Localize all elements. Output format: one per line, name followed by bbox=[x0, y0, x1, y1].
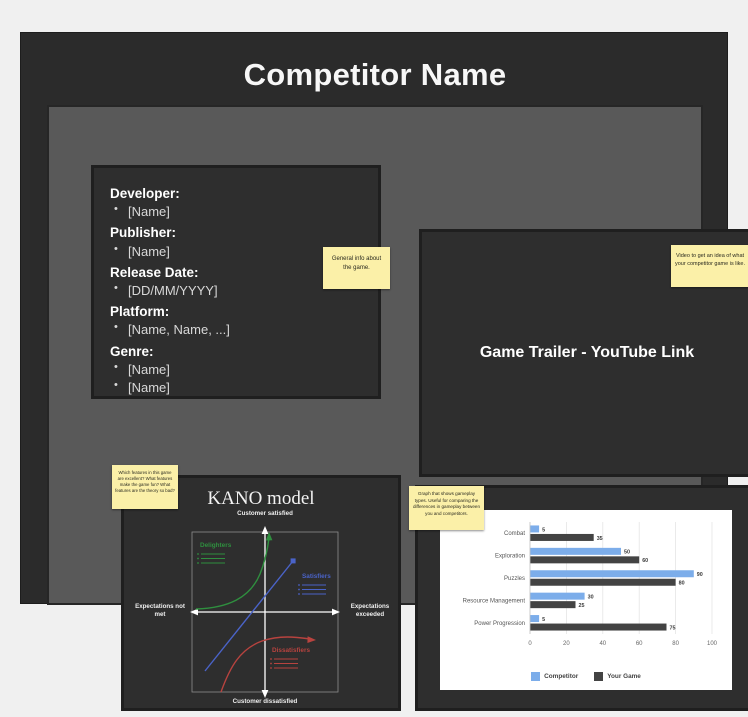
x-tick-label: 40 bbox=[599, 641, 606, 647]
legend-item-your-game: Your Game bbox=[594, 672, 641, 681]
kano-curve-label-dissatisfiers: Dissatisfiers bbox=[272, 647, 310, 654]
slide: Competitor Name Developer: [Name] Publis… bbox=[20, 32, 728, 604]
legend-swatch-competitor bbox=[531, 672, 540, 681]
bar-0 bbox=[530, 570, 694, 577]
bar-0 bbox=[530, 525, 539, 532]
sticky-note-kano: Which features in this game are excellen… bbox=[112, 465, 178, 509]
kano-axis-label-bottom: Customer dissatisfied bbox=[229, 698, 301, 706]
kano-placeholder-lines-dissatisfiers bbox=[274, 659, 298, 668]
chart-x-axis-ticks: 020406080100 bbox=[528, 641, 717, 647]
bar-1 bbox=[530, 534, 594, 541]
category-label: Puzzles bbox=[504, 576, 525, 582]
legend-label-your-game: Your Game bbox=[607, 673, 641, 680]
legend-item-competitor: Competitor bbox=[531, 672, 578, 681]
kano-diagram: Delighters Satisfiers bbox=[124, 512, 404, 712]
category-label: Power Progression bbox=[474, 621, 525, 627]
page-title: Competitor Name bbox=[21, 57, 729, 93]
bar-value-label: 90 bbox=[697, 572, 703, 578]
slide-content-frame: Developer: [Name] Publisher: [Name] Rele… bbox=[47, 105, 703, 605]
x-tick-label: 80 bbox=[672, 641, 679, 647]
kano-model-panel: KANO model bbox=[121, 475, 401, 711]
info-value: [Name] bbox=[110, 203, 368, 221]
bar-value-label: 75 bbox=[670, 625, 676, 631]
gameplay-bar-chart-svg: 535506090803025575 CombatExplorationPuzz… bbox=[440, 510, 732, 660]
game-trailer-label[interactable]: Game Trailer - YouTube Link bbox=[422, 344, 748, 362]
category-label: Combat bbox=[504, 531, 525, 537]
kano-placeholder-lines-satisfiers bbox=[302, 585, 326, 594]
info-key: Publisher: bbox=[110, 224, 368, 242]
kano-axis-label-right: Expectations exceeded bbox=[342, 603, 398, 620]
x-tick-label: 100 bbox=[707, 641, 718, 647]
bar-value-label: 5 bbox=[542, 617, 545, 623]
bar-1 bbox=[530, 579, 676, 586]
bar-1 bbox=[530, 624, 667, 631]
kano-axis-label-top: Customer satisfied bbox=[229, 510, 301, 518]
info-key: Genre: bbox=[110, 343, 368, 361]
info-key: Developer: bbox=[110, 185, 368, 203]
general-info-list: Developer: [Name] Publisher: [Name] Rele… bbox=[110, 182, 368, 397]
bar-0 bbox=[530, 548, 621, 555]
kano-curve-label-satisfiers: Satisfiers bbox=[302, 573, 331, 580]
kano-curve-label-delighters: Delighters bbox=[200, 542, 232, 549]
x-tick-label: 0 bbox=[528, 641, 532, 647]
info-value: [Name, Name, ...] bbox=[110, 321, 368, 339]
sticky-note-trailer: Video to get an idea of what your compet… bbox=[671, 245, 748, 287]
x-tick-label: 60 bbox=[636, 641, 643, 647]
bar-1 bbox=[530, 601, 576, 608]
chart-legend: Competitor Your Game bbox=[440, 672, 732, 681]
info-value: [Name] bbox=[110, 361, 368, 379]
category-label: Exploration bbox=[495, 554, 525, 560]
chart-bars: 535506090803025575 bbox=[530, 525, 703, 631]
bar-1 bbox=[530, 556, 639, 563]
kano-placeholder-lines-delighters bbox=[201, 554, 225, 563]
x-tick-label: 20 bbox=[563, 641, 570, 647]
sticky-note-general-info: General info about the game. bbox=[323, 247, 390, 289]
gameplay-bar-chart: 535506090803025575 CombatExplorationPuzz… bbox=[440, 510, 732, 690]
bar-0 bbox=[530, 615, 539, 622]
bar-value-label: 5 bbox=[542, 527, 545, 533]
bar-0 bbox=[530, 593, 585, 600]
legend-label-competitor: Competitor bbox=[544, 673, 578, 680]
legend-swatch-your-game bbox=[594, 672, 603, 681]
sticky-note-chart: Graph that shows gameplay types. Useful … bbox=[409, 486, 484, 530]
bar-value-label: 80 bbox=[679, 581, 685, 587]
bar-value-label: 35 bbox=[597, 536, 603, 542]
info-value: [Name] bbox=[110, 379, 368, 397]
bar-value-label: 60 bbox=[642, 558, 648, 564]
kano-axis-label-left: Expectations not met bbox=[132, 603, 188, 620]
info-key: Platform: bbox=[110, 303, 368, 321]
bar-value-label: 50 bbox=[624, 550, 630, 556]
chart-category-labels: CombatExplorationPuzzlesResource Managem… bbox=[463, 531, 526, 627]
bar-value-label: 30 bbox=[588, 594, 594, 600]
